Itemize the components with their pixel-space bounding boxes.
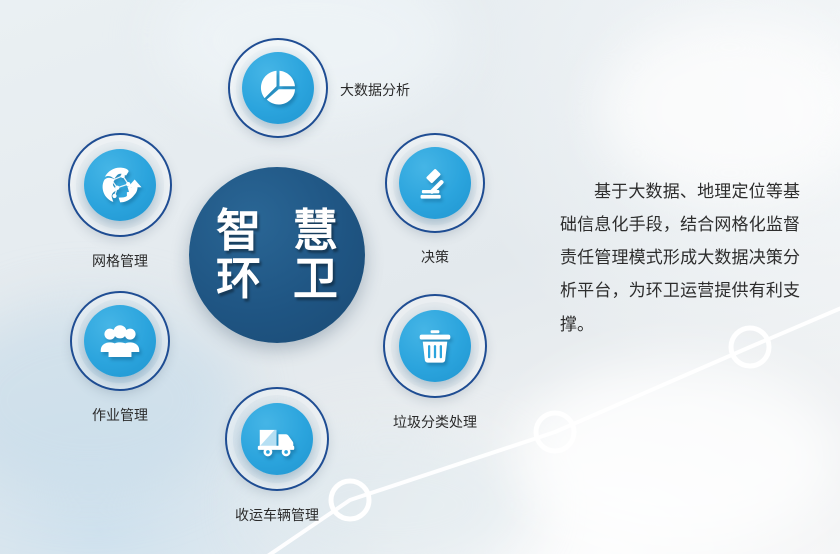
node-grid-management[interactable]: 网格管理 (68, 133, 172, 237)
polyline-marker (331, 481, 369, 519)
trash-bin-icon (414, 325, 456, 367)
globe-network-icon (98, 163, 142, 207)
node-disc[interactable] (399, 147, 471, 219)
node-disc[interactable] (241, 403, 313, 475)
hub-title-line1: 智 慧 (208, 207, 346, 255)
node-disc[interactable] (84, 305, 156, 377)
node-disc[interactable] (399, 310, 471, 382)
gavel-icon (414, 162, 456, 204)
polyline-marker (536, 413, 574, 451)
node-disc[interactable] (84, 149, 156, 221)
people-group-icon (98, 319, 142, 363)
node-operation-management[interactable]: 作业管理 (70, 291, 170, 391)
node-disc[interactable] (242, 52, 314, 124)
node-big-data-analysis[interactable]: 大数据分析 (228, 38, 328, 138)
infographic-canvas: 网格管理 大数据分析 (0, 0, 840, 554)
hub-circle: 智 慧 环 卫 (189, 167, 365, 343)
node-label-decision: 决策 (421, 247, 449, 267)
node-vehicle-management[interactable]: 收运车辆管理 (225, 387, 329, 491)
node-label-operation-management: 作业管理 (92, 405, 148, 425)
pie-chart-icon (256, 66, 300, 110)
node-label-vehicle-management: 收运车辆管理 (235, 505, 319, 525)
node-decision[interactable]: 决策 (385, 133, 485, 233)
background-blob (520, 360, 840, 550)
node-label-garbage-classification: 垃圾分类处理 (393, 412, 477, 432)
truck-icon (254, 416, 300, 462)
node-label-big-data-analysis: 大数据分析 (340, 80, 410, 100)
node-garbage-classification[interactable]: 垃圾分类处理 (383, 294, 487, 398)
hub-title-line2: 环 卫 (208, 255, 346, 303)
background-blob (600, 20, 840, 200)
description-text: 基于大数据、地理定位等基础信息化手段，结合网格化监督责任管理模式形成大数据决策分… (560, 176, 800, 342)
node-label-grid-management: 网格管理 (92, 251, 148, 271)
